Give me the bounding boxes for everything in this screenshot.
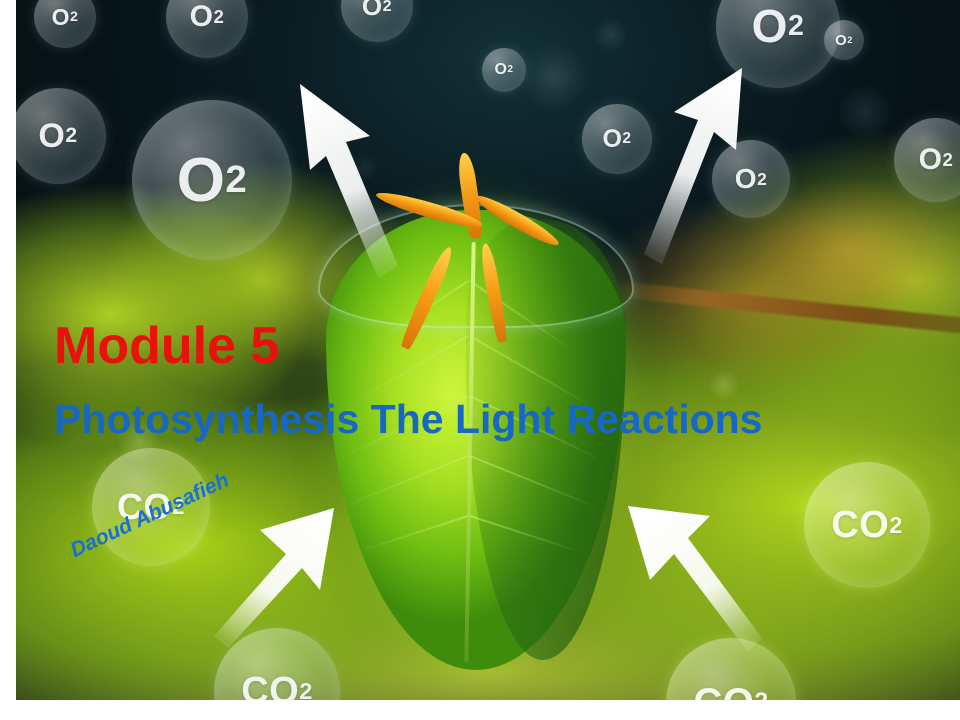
bubble-formula: O — [177, 145, 226, 216]
bubble-formula: O — [495, 61, 508, 79]
arrow-co2-in-left — [212, 486, 362, 656]
bubble-formula: O — [52, 4, 70, 31]
bubble-formula: O — [602, 125, 622, 154]
bubble-formula: CO — [831, 504, 889, 547]
bubble-formula: O — [362, 0, 383, 22]
bubble-formula: O — [190, 0, 214, 34]
bubble-formula: CO — [241, 670, 299, 701]
bubble-formula: CO — [693, 681, 754, 701]
page-title-module: Module 5 — [54, 316, 279, 376]
presentation-slide: O2 O2 O2 O2 O2 O2 O2 O2 O2 O2 — [0, 0, 960, 720]
bubble-o2-top-small: O2 — [482, 48, 526, 92]
bubble-formula: O — [752, 0, 788, 53]
bubble-o2-left-large: O2 — [132, 100, 292, 260]
bubble-formula: O — [835, 32, 847, 49]
bubble-formula: O — [38, 117, 65, 156]
arrow-oxygen-out-right — [636, 58, 776, 278]
arrow-co2-in-right — [604, 486, 764, 666]
page-subtitle-topic: Photosynthesis The Light Reactions — [54, 396, 762, 443]
bubble-o2-upper-right-tiny: O2 — [824, 20, 864, 60]
bubble-formula: O — [919, 143, 943, 177]
arrow-oxygen-out-left — [278, 70, 408, 280]
bubble-co2-lower-right: CO2 — [804, 462, 930, 588]
